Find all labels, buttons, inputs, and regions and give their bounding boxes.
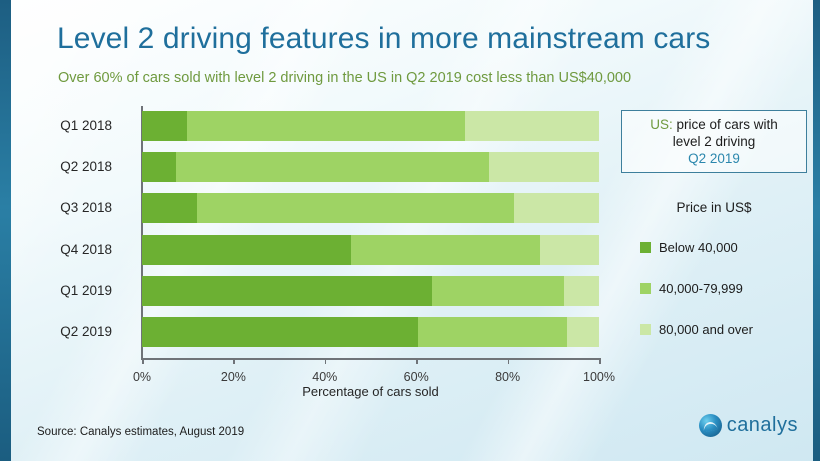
bar-segment bbox=[142, 111, 187, 141]
bar-segment bbox=[418, 317, 567, 347]
legend-item[interactable]: 40,000-79,999 bbox=[640, 281, 743, 296]
bar-segment bbox=[432, 276, 564, 306]
bar-segment bbox=[197, 193, 514, 223]
canalys-logo: canalys bbox=[699, 414, 798, 437]
bar-segment bbox=[351, 235, 540, 265]
x-tick-label: 80% bbox=[495, 370, 520, 384]
callout-line2: level 2 driving bbox=[673, 134, 756, 149]
x-tick bbox=[416, 358, 418, 364]
right-accent-bar bbox=[813, 0, 820, 461]
bar-row bbox=[142, 317, 599, 347]
bar-segment bbox=[564, 276, 599, 306]
legend-swatch-icon bbox=[640, 242, 651, 253]
source-note: Source: Canalys estimates, August 2019 bbox=[37, 426, 244, 438]
bar-segment bbox=[176, 152, 490, 182]
legend-title: Price in US$ bbox=[621, 200, 807, 215]
bar-segment bbox=[489, 152, 599, 182]
category-axis: Q1 2018Q2 2018Q3 2018Q4 2018Q1 2019Q2 20… bbox=[0, 108, 130, 358]
callout-box: US: price of cars with level 2 driving Q… bbox=[621, 110, 807, 173]
x-tick-label: 20% bbox=[221, 370, 246, 384]
bar-row bbox=[142, 276, 599, 306]
legend-swatch-icon bbox=[640, 324, 651, 335]
x-tick bbox=[599, 358, 601, 364]
x-axis-line bbox=[141, 358, 600, 360]
x-tick-label: 100% bbox=[583, 370, 615, 384]
category-label: Q4 2018 bbox=[60, 242, 112, 257]
legend-item[interactable]: 80,000 and over bbox=[640, 322, 753, 337]
x-tick bbox=[233, 358, 235, 364]
x-tick-label: 60% bbox=[404, 370, 429, 384]
bar-row bbox=[142, 235, 599, 265]
callout-quarter: Q2 2019 bbox=[688, 151, 740, 166]
x-tick bbox=[508, 358, 510, 364]
category-label: Q1 2018 bbox=[60, 118, 112, 133]
page-subtitle: Over 60% of cars sold with level 2 drivi… bbox=[58, 70, 631, 86]
legend-label: 40,000-79,999 bbox=[659, 281, 743, 296]
page-title: Level 2 driving features in more mainstr… bbox=[57, 22, 710, 56]
bar-segment bbox=[142, 152, 176, 182]
globe-icon bbox=[699, 414, 722, 437]
bar-segment bbox=[187, 111, 465, 141]
category-label: Q2 2018 bbox=[60, 159, 112, 174]
x-tick-label: 0% bbox=[133, 370, 151, 384]
bar-row bbox=[142, 111, 599, 141]
category-label: Q2 2019 bbox=[60, 324, 112, 339]
legend-label: 80,000 and over bbox=[659, 322, 753, 337]
legend-swatch-icon bbox=[640, 283, 651, 294]
bar-row bbox=[142, 193, 599, 223]
bar-segment bbox=[465, 111, 599, 141]
bar-segment bbox=[142, 193, 197, 223]
bar-row bbox=[142, 152, 599, 182]
callout-region: US: bbox=[650, 117, 673, 132]
category-label: Q1 2019 bbox=[60, 283, 112, 298]
bar-segment bbox=[142, 276, 432, 306]
bar-segment bbox=[142, 317, 418, 347]
category-label: Q3 2018 bbox=[60, 200, 112, 215]
bar-segment bbox=[514, 193, 599, 223]
x-tick bbox=[325, 358, 327, 364]
legend-label: Below 40,000 bbox=[659, 240, 738, 255]
callout-text: US: price of cars with level 2 driving Q… bbox=[650, 116, 778, 167]
logo-wordmark: canalys bbox=[727, 414, 798, 437]
bar-segment bbox=[540, 235, 599, 265]
callout-line1: price of cars with bbox=[673, 117, 778, 132]
slide-canvas: Level 2 driving features in more mainstr… bbox=[0, 0, 820, 461]
bar-segment bbox=[567, 317, 599, 347]
x-tick-label: 40% bbox=[312, 370, 337, 384]
bar-segment bbox=[142, 235, 351, 265]
x-axis-title: Percentage of cars sold bbox=[142, 384, 599, 399]
x-tick bbox=[142, 358, 144, 364]
legend-item[interactable]: Below 40,000 bbox=[640, 240, 738, 255]
chart-plot-area: 0%20%40%60%80%100% bbox=[142, 108, 599, 358]
